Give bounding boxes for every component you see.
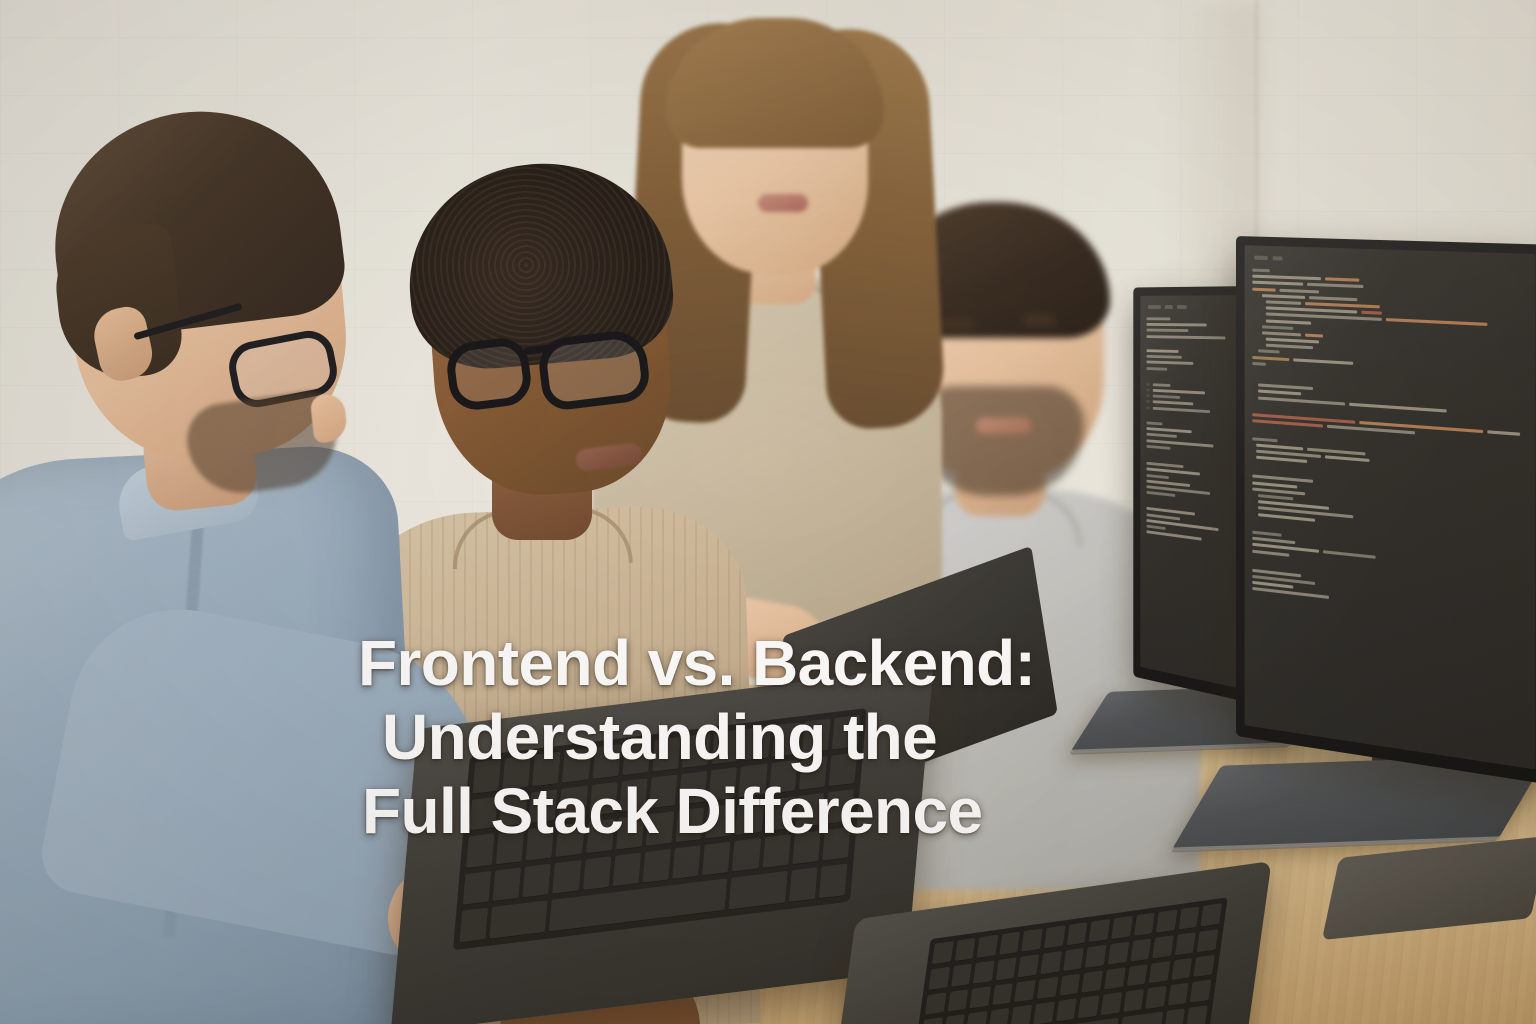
- hero-title: Frontend vs. Backend: Understanding the …: [358, 626, 1258, 848]
- monitor-right-glare: [1245, 245, 1536, 769]
- nose: [310, 392, 349, 443]
- monitor-right[interactable]: [1236, 236, 1536, 784]
- lips: [976, 418, 1032, 434]
- hero-banner: Frontend vs. Backend: Understanding the …: [0, 0, 1536, 1024]
- title-line-2: Understanding the: [358, 700, 1258, 774]
- eye-right: [1022, 314, 1056, 326]
- title-line-1: Frontend vs. Backend:: [358, 626, 1258, 700]
- title-line-3: Full Stack Difference: [358, 774, 1258, 848]
- monitor-right-screen: [1245, 245, 1536, 769]
- laptop-second-keyboard[interactable]: [912, 897, 1228, 1024]
